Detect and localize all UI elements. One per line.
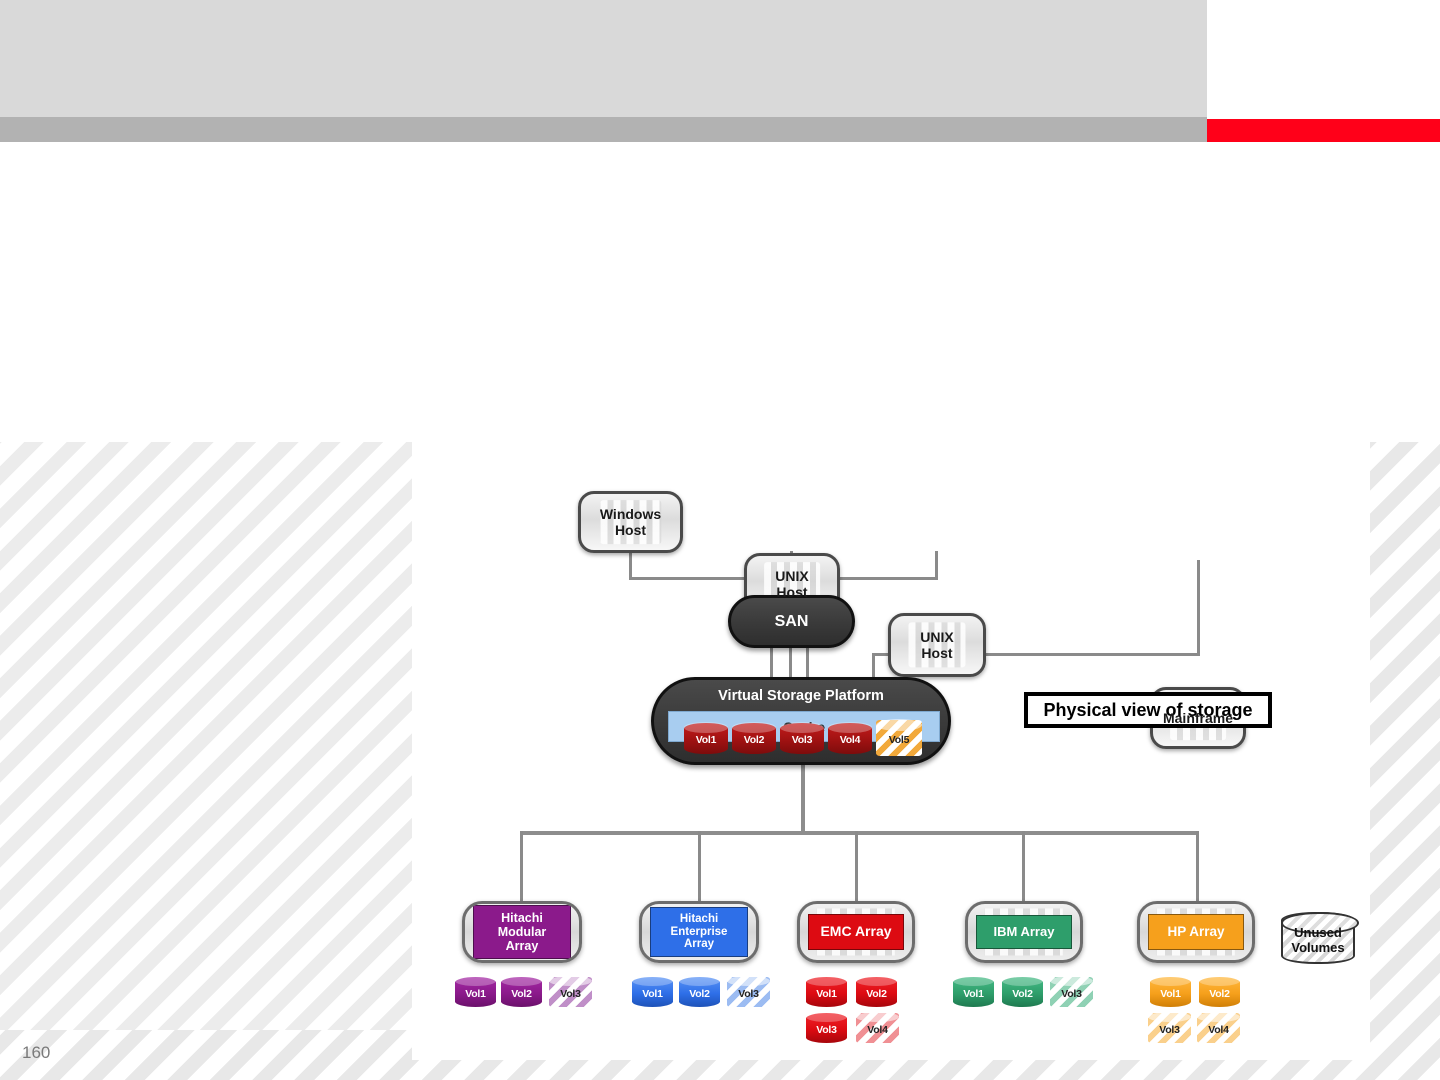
mainframe-label: Mainframe	[1163, 710, 1233, 726]
array-node-hitachi-enterprise[interactable]: Hitachi Enterprise Array	[639, 901, 759, 963]
connector-array-leg-3	[855, 831, 858, 903]
hitachi-enterprise-array-label: Hitachi Enterprise Array	[650, 907, 748, 958]
connector-array-leg-2	[698, 831, 701, 903]
san-node[interactable]: SAN	[728, 595, 855, 648]
hp-volume-4-label: Vol4	[1208, 1024, 1229, 1036]
hitachi-enterprise-volume-2-label: Vol2	[689, 988, 710, 1000]
emc-volume-1-label: Vol1	[816, 988, 837, 1000]
hitachi-modular-volume-2[interactable]: Vol2	[501, 977, 542, 1007]
unused-volumes-legend-line1: Unused	[1294, 925, 1342, 940]
connector-array-leg-5	[1196, 831, 1199, 903]
hp-volume-4[interactable]: Vol4	[1197, 1013, 1240, 1043]
ibm-volume-2-label: Vol2	[1012, 988, 1033, 1000]
ibm-array-label-line1: IBM Array	[994, 924, 1055, 939]
ibm-array-label: IBM Array	[976, 915, 1072, 950]
slide-left-stripe-area	[0, 442, 412, 1030]
unused-volumes-legend-line2: Volumes	[1291, 940, 1344, 955]
connector-mainframe-drop	[1197, 560, 1200, 655]
hp-volume-1-label: Vol1	[1160, 988, 1181, 1000]
virtual-storage-platform-node[interactable]: Virtual Storage Platform Cache Vol1 Vol2…	[651, 677, 951, 765]
emc-volume-4-label: Vol4	[867, 1024, 888, 1036]
hp-volume-1[interactable]: Vol1	[1150, 977, 1191, 1007]
connector-vsp-down	[801, 763, 805, 833]
array-node-hitachi-modular[interactable]: Hitachi Modular Array	[462, 901, 582, 963]
emc-volume-2[interactable]: Vol2	[856, 977, 897, 1007]
hp-array-label: HP Array	[1148, 914, 1244, 949]
vsp-volume-1[interactable]: Vol1	[684, 723, 728, 754]
hitachi-modular-volume-1-label: Vol1	[465, 988, 486, 1000]
vsp-volume-2-label: Vol2	[744, 734, 765, 746]
unix-host-1-label-line1: UNIX	[775, 568, 808, 584]
hitachi-enterprise-volume-1[interactable]: Vol1	[632, 977, 673, 1007]
hitachi-modular-volume-3[interactable]: Vol3	[549, 977, 592, 1007]
vsp-volume-4-label: Vol4	[840, 734, 861, 746]
hitachi-modular-volume-2-label: Vol2	[511, 988, 532, 1000]
array-node-hp[interactable]: HP Array	[1137, 901, 1255, 963]
vsp-volume-2[interactable]: Vol2	[732, 723, 776, 754]
vsp-volume-4[interactable]: Vol4	[828, 723, 872, 754]
emc-volume-2-label: Vol2	[866, 988, 887, 1000]
ibm-volume-2[interactable]: Vol2	[1002, 977, 1043, 1007]
physical-view-caption: Physical view of storage	[1024, 692, 1272, 728]
connector-array-bus	[520, 831, 1199, 835]
hp-volume-3-label: Vol3	[1159, 1024, 1180, 1036]
emc-array-label-line1: EMC Array	[820, 923, 891, 939]
emc-volume-3[interactable]: Vol3	[806, 1013, 847, 1043]
array-node-emc[interactable]: EMC Array	[797, 901, 915, 963]
emc-volume-1[interactable]: Vol1	[806, 977, 847, 1007]
emc-array-label: EMC Array	[808, 914, 904, 950]
connector-windows-host-drop	[629, 551, 632, 580]
hitachi-modular-array-label-line1: Hitachi Modular	[498, 911, 547, 939]
slide-number: 160	[22, 1043, 50, 1063]
hp-volume-2[interactable]: Vol2	[1199, 977, 1240, 1007]
vsp-volume-3-label: Vol3	[792, 734, 813, 746]
hitachi-enterprise-volume-3-label: Vol3	[738, 988, 759, 1000]
hitachi-enterprise-array-label-line1: Hitachi Enterprise	[671, 913, 728, 938]
ibm-volume-3-label: Vol3	[1061, 988, 1082, 1000]
vsp-volume-5[interactable]: Vol5	[876, 720, 922, 756]
san-label: SAN	[775, 613, 809, 631]
header-rule-gray	[0, 117, 1207, 142]
vsp-volume-1-label: Vol1	[696, 734, 717, 746]
windows-host-label-line1: Windows	[600, 506, 661, 522]
unix-host-2-label-line1: UNIX	[920, 629, 953, 645]
hitachi-enterprise-volume-1-label: Vol1	[642, 988, 663, 1000]
connector-array-leg-4	[1022, 831, 1025, 903]
hitachi-modular-volume-1[interactable]: Vol1	[455, 977, 496, 1007]
ibm-volume-1[interactable]: Vol1	[953, 977, 994, 1007]
windows-host-label-line2: Host	[615, 522, 646, 538]
hitachi-enterprise-volume-3[interactable]: Vol3	[727, 977, 770, 1007]
emc-volume-3-label: Vol3	[816, 1024, 837, 1036]
hitachi-modular-volume-3-label: Vol3	[560, 988, 581, 1000]
array-node-ibm[interactable]: IBM Array	[965, 901, 1083, 963]
unix-host-1-label-line2: Host	[776, 584, 807, 600]
ibm-volume-1-label: Vol1	[963, 988, 984, 1000]
unix-host-2-label-line2: Host	[921, 645, 952, 661]
hitachi-enterprise-array-label-line2: Array	[684, 938, 714, 950]
slide-header-band	[0, 0, 1207, 117]
hp-volume-2-label: Vol2	[1209, 988, 1230, 1000]
connector-unix-host-2-drop	[935, 551, 938, 580]
hitachi-enterprise-volume-2[interactable]: Vol2	[679, 977, 720, 1007]
header-rule-red-accent	[1207, 119, 1440, 142]
vsp-volume-5-label: Vol5	[889, 734, 910, 746]
emc-volume-4[interactable]: Vol4	[856, 1013, 899, 1043]
hp-array-label-line1: HP Array	[1167, 924, 1224, 939]
host-node-unix-2[interactable]: UNIX Host	[888, 613, 986, 677]
vsp-title: Virtual Storage Platform	[654, 688, 948, 704]
vsp-volume-3[interactable]: Vol3	[780, 723, 824, 754]
hp-volume-3[interactable]: Vol3	[1148, 1013, 1191, 1043]
hitachi-modular-array-label-line2: Array	[506, 939, 539, 953]
connector-array-leg-1	[520, 831, 523, 903]
host-node-windows[interactable]: Windows Host	[578, 491, 683, 553]
unused-volumes-legend: Unused Volumes	[1281, 912, 1355, 964]
ibm-volume-3[interactable]: Vol3	[1050, 977, 1093, 1007]
hitachi-modular-array-label: Hitachi Modular Array	[473, 905, 571, 959]
